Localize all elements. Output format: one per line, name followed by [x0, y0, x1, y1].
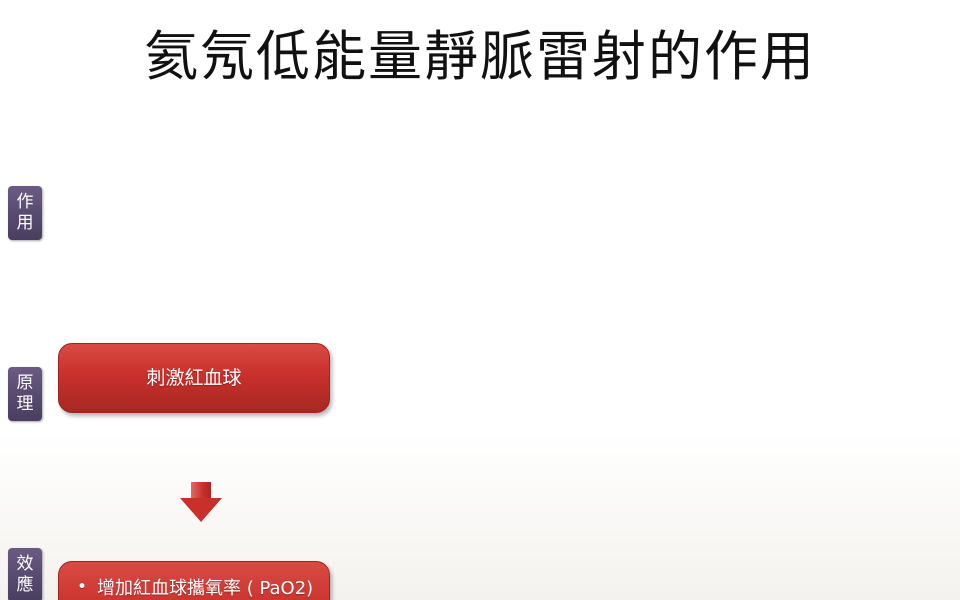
arrow-head — [180, 498, 222, 522]
slide-canvas: 氦氖低能量靜脈雷射的作用 作 用 原 理 效 應 刺激紅血球 增加紅血球攜氧率 … — [0, 0, 960, 600]
box-erythrocyte-principle[interactable]: 增加紅血球攜氧率 ( PaO2) 修復表面受損能力1 提高膜變形能力 — [58, 561, 330, 600]
erythrocyte-principle-list: 增加紅血球攜氧率 ( PaO2) 修復表面受損能力1 提高膜變形能力 — [69, 577, 319, 600]
box-erythrocyte-action[interactable]: 刺激紅血球 — [58, 343, 330, 413]
row-label-action-line1: 作 — [8, 192, 42, 213]
row-label-effect-line2: 應 — [8, 575, 42, 596]
page-title: 氦氖低能量靜脈雷射的作用 — [0, 26, 960, 88]
row-label-principle-line1: 原 — [8, 373, 42, 394]
box-erythrocyte-action-label: 刺激紅血球 — [69, 366, 319, 391]
row-label-action: 作 用 — [8, 186, 42, 240]
arrow-erythrocyte-action-to-principle — [180, 482, 222, 522]
row-label-principle: 原 理 — [8, 367, 42, 421]
row-label-effect-line1: 效 — [8, 554, 42, 575]
row-label-effect: 效 應 — [8, 548, 42, 600]
row-label-principle-line2: 理 — [8, 394, 42, 415]
list-item: 增加紅血球攜氧率 ( PaO2) — [71, 577, 319, 600]
row-label-action-line2: 用 — [8, 213, 42, 234]
